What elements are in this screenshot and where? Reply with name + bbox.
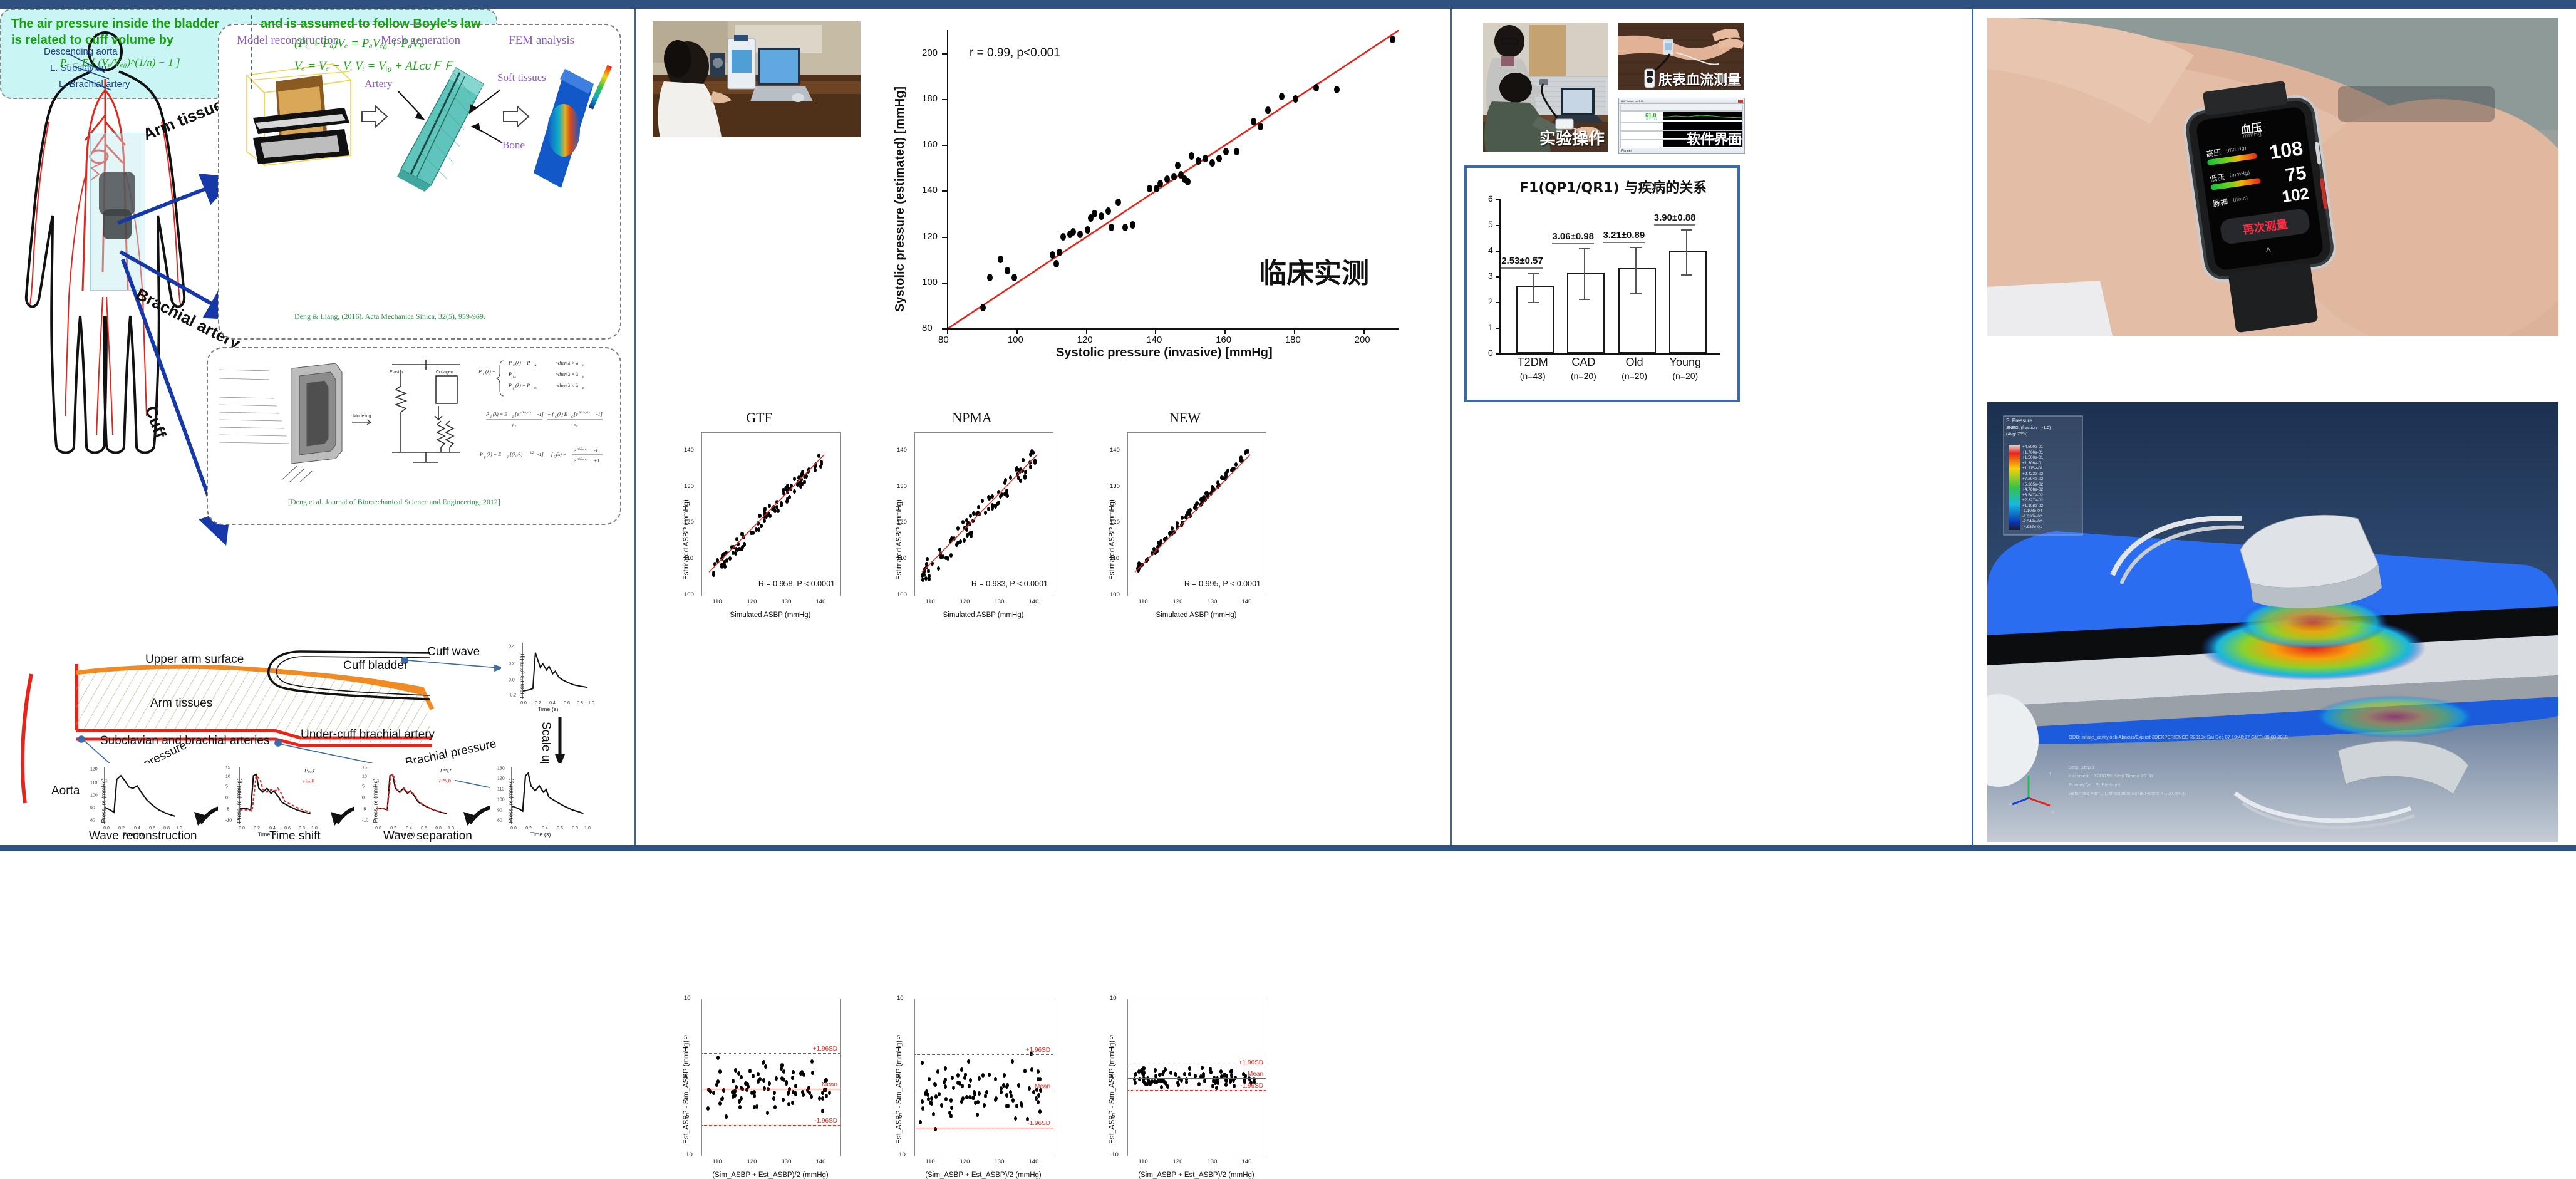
- bland-point: [715, 1083, 718, 1087]
- fem-citation: Deng & Liang, (2016). Acta Mechanica Sin…: [294, 312, 485, 321]
- error-cap-bottom: [1681, 274, 1692, 276]
- ts-ytick-4: 10: [362, 775, 367, 779]
- scatter-point: [1050, 251, 1055, 259]
- svg-text:bk: bk: [534, 365, 537, 368]
- correlation-ylabel: Estimated ASBP (mmHg): [896, 499, 903, 580]
- mri-reconstruction-image: [239, 58, 358, 177]
- bland-point: [1037, 1069, 1040, 1074]
- svg-text:b: b: [582, 365, 584, 368]
- ytick-mark: [942, 283, 948, 284]
- main-chart-cjk-overlay: 临床实测: [1259, 251, 1369, 291]
- bar-ytick-mark: [1496, 353, 1499, 355]
- svg-text:b: b: [582, 387, 584, 390]
- time-shift-axes: [376, 767, 451, 824]
- bland-point: [762, 1078, 765, 1083]
- fem-legend-value: +1.700e-01: [2022, 450, 2043, 456]
- bland-ylabel: Est_ASBP - Sim_ASBP (mmHg): [683, 1041, 690, 1144]
- ytick: 140: [1110, 447, 1120, 454]
- chart-brachial-pressure: Pressure (mmHg) Time (s) 80 90 100 110 1…: [490, 763, 591, 838]
- svg-text:bk: bk: [534, 387, 537, 390]
- lower-limit-line: [915, 1128, 1053, 1128]
- bland-point: [757, 1072, 760, 1076]
- software-sub-value-2: 61: [1654, 118, 1657, 121]
- small-chart-title: GTF: [674, 410, 844, 426]
- bland-point: [718, 1101, 722, 1106]
- reconstructed-legend-backward: Pₐₒ,b: [303, 778, 314, 784]
- bar-ytick-mark: [1496, 225, 1499, 226]
- error-cap-top: [1630, 247, 1642, 248]
- smartwatch-device[interactable]: 血压 mmHg 高压 (mmHg) 108 低压 (mmHg) 75 脉搏 (/…: [2187, 98, 2333, 278]
- xtick: 110: [926, 598, 935, 605]
- svg-text:P: P: [508, 371, 512, 377]
- fem-legend-value: +1.108e-02: [2022, 504, 2043, 509]
- rec-ytick-4: 10: [225, 775, 230, 779]
- br-ytick-2: 100: [497, 798, 505, 802]
- label-l-brachial-artery: L. Brachial artery: [59, 79, 130, 90]
- bladder-pressure-text-line1: The air pressure inside the bladder: [11, 16, 249, 32]
- reconstructed-legend-forward: Pₐₒ,f: [304, 768, 314, 774]
- main-chart-xtick: 140: [1146, 335, 1162, 345]
- bland-point: [1176, 1081, 1179, 1085]
- bland-point: [983, 1103, 986, 1108]
- main-chart-xtick: 160: [1216, 335, 1231, 345]
- correlation-ylabel: Estimated ASBP (mmHg): [1109, 499, 1116, 580]
- chart-aortic-pressure: Pressure (mmHg) Time (s) 80 90 100 110 1…: [83, 763, 183, 838]
- watch-row-0-unit: (mmHg): [2225, 145, 2247, 153]
- svg-text:-1]: -1]: [537, 412, 544, 417]
- svg-text:E: E: [490, 416, 492, 419]
- bland-xtick: 110: [1139, 1158, 1148, 1165]
- aortic-ytick-3: 110: [90, 781, 97, 786]
- cuff-wave-axes: [522, 643, 591, 699]
- scatter-point: [1105, 207, 1111, 215]
- bland-point: [978, 1076, 981, 1081]
- fem-legend-value: -1.108e-04: [2022, 509, 2043, 514]
- bland-xtick: 140: [1242, 1158, 1252, 1165]
- bland-point: [1197, 1082, 1201, 1086]
- fem-legend-value: +1.500e-01: [2022, 455, 2043, 461]
- bland-ytick: -10: [684, 1151, 693, 1158]
- br-xtick-3: 0.6: [557, 826, 563, 831]
- main-chart-ytick: 140: [922, 185, 938, 195]
- xtick: 110: [1139, 598, 1148, 605]
- svg-text:+ f: + f: [547, 412, 554, 417]
- bland-xtick: 140: [1029, 1158, 1039, 1165]
- bland-point: [924, 1091, 927, 1096]
- bland-point: [967, 1059, 970, 1064]
- ytick: 140: [897, 447, 907, 454]
- bar-category-label: CAD: [1556, 356, 1611, 369]
- bland-point: [932, 1112, 935, 1116]
- cuff-wave-xtick-0: 0.0: [520, 701, 527, 705]
- time-shift-ylabel: Pressure (mmHg): [373, 778, 379, 823]
- clinical-setup-photo: [653, 21, 861, 137]
- ytick-mark: [942, 99, 948, 100]
- panel-cuff-arm-model: Descending aorta L. Subclavian L. Brachi…: [0, 9, 634, 845]
- label-under-cuff-brachial-artery: Under-cuff brachial artery: [301, 728, 435, 742]
- rec-ytick-1: -5: [225, 808, 229, 812]
- mean-line-label: Mean: [1248, 1071, 1263, 1078]
- ts-ytick-0: -10: [362, 819, 368, 823]
- fem-legend-values: +4.500e-01+1.700e-01+1.500e-01+1.308e-01…: [2022, 445, 2043, 530]
- validation-chart-NPMA: NPMAR = 0.933, P < 0.0001100110120130140…: [887, 410, 1057, 823]
- bland-point: [1020, 1103, 1023, 1108]
- svg-text:ρ: ρ: [573, 423, 576, 427]
- scatter-point: [1185, 178, 1191, 185]
- bland-point: [706, 1106, 710, 1111]
- main-chart-ytick: 120: [922, 231, 938, 242]
- brachial-pressure-axes: [511, 767, 587, 824]
- bland-point: [940, 1103, 943, 1108]
- arm-cuff-schematic: Upper arm surface Arm tissues Cuff bladd…: [6, 635, 626, 851]
- reconstructed-ylabel: Pressure (mmHg): [236, 778, 242, 823]
- svg-text:p: p: [484, 456, 486, 459]
- watch-remeasure-button[interactable]: 再次测量: [2219, 208, 2310, 245]
- bland-point: [1154, 1074, 1157, 1078]
- panel-wearable-and-fem: 血压 mmHg 高压 (mmHg) 108 低压 (mmHg) 75 脉搏 (/…: [1973, 9, 2576, 845]
- bland-point: [968, 1084, 971, 1088]
- bland-point: [1209, 1070, 1213, 1074]
- main-chart-xtick: 120: [1077, 335, 1093, 345]
- xtick: 140: [816, 598, 826, 605]
- main-chart-xtick: 80: [938, 335, 949, 345]
- ytick: 130: [684, 483, 694, 490]
- bland-point: [1023, 1069, 1027, 1073]
- lower-limit-line-label: -1.96SD: [814, 1118, 837, 1124]
- reconstructed-wave-axes: [239, 767, 314, 824]
- scatter-point: [1293, 95, 1298, 103]
- panel-experiment-statistics: 实验操作 肤表血流测量 LDF: [1452, 9, 1972, 845]
- watch-row-1-value: 75: [2284, 163, 2308, 187]
- bland-point: [971, 1096, 975, 1100]
- scatter-point: [1164, 175, 1170, 183]
- xtick: 130: [1208, 598, 1218, 605]
- watch-row-2-value: 102: [2281, 184, 2310, 207]
- svg-text:p: p: [512, 387, 515, 390]
- bland-point: [944, 1084, 947, 1089]
- error-bar: [1635, 248, 1637, 294]
- correlation-plot-frame: R = 0.933, P < 0.0001: [914, 432, 1053, 596]
- bland-point: [1017, 1083, 1020, 1088]
- bland-xtick: 130: [782, 1158, 792, 1165]
- aortic-pressure-axes: [104, 767, 179, 824]
- bland-point: [738, 1105, 742, 1109]
- bar-value-label: 2.53±0.57: [1501, 256, 1543, 269]
- aortic-pressure-ylabel: Pressure (mmHg): [101, 778, 107, 823]
- bland-altman-frame: +1.96SDMean-1.96SD: [701, 999, 841, 1156]
- bland-point: [1169, 1071, 1172, 1075]
- error-cap-top: [1579, 248, 1590, 249]
- scatter-point: [1175, 162, 1181, 169]
- fem-legend-sub2: (Avg: 75%): [2006, 432, 2028, 437]
- scatter-point: [1130, 221, 1135, 229]
- bland-point: [1138, 1077, 1141, 1081]
- bland-point: [1158, 1073, 1161, 1077]
- bland-point: [821, 1109, 824, 1113]
- arterial-material-model-box: Modeling Elastin Collagen: [207, 347, 621, 525]
- bar-group-size-label: (n=20): [1607, 371, 1662, 381]
- bland-point: [969, 1078, 972, 1083]
- xtick-mark: [1155, 328, 1156, 334]
- svg-text:t: t: [483, 373, 484, 377]
- bland-point: [1141, 1071, 1144, 1076]
- bland-point: [938, 1092, 941, 1096]
- correlation-ylabel: Estimated ASBP (mmHg): [683, 499, 690, 580]
- close-icon[interactable]: [1738, 100, 1743, 103]
- bar-category-label: T2DM: [1505, 356, 1560, 369]
- main-chart-xlabel: Systolic pressure (invasive) [mmHg]: [1056, 346, 1273, 360]
- bland-point: [1188, 1072, 1191, 1076]
- regression-line: [915, 433, 1053, 596]
- cuff-wave-xtick-3: 0.6: [564, 701, 570, 705]
- xtick: 140: [1029, 598, 1039, 605]
- bland-point: [782, 1098, 785, 1102]
- scatter-point: [1203, 155, 1208, 162]
- bland-point: [1219, 1069, 1223, 1074]
- bland-point: [1160, 1085, 1163, 1089]
- rec-ytick-2: 0: [225, 796, 228, 801]
- step-wave-separation: Wave separation: [383, 829, 472, 843]
- bar-ytick: 2: [1488, 296, 1493, 306]
- mean-line: [915, 1091, 1053, 1091]
- time-shift-legend-forward: P*ᵇᵣ,f: [440, 768, 451, 774]
- svg-text:when λ > λ: when λ > λ: [556, 360, 579, 366]
- br-xtick-0: 0.0: [510, 826, 517, 831]
- bland-point: [1038, 1109, 1042, 1114]
- chart-invasive-vs-estimated: Systolic pressure (estimated) [mmHg] r =…: [887, 18, 1425, 368]
- bland-xtick: 110: [926, 1158, 935, 1165]
- bland-point: [965, 1095, 968, 1099]
- ts-ytick-5: 15: [362, 766, 367, 771]
- br-xtick-5: 1.0: [584, 826, 591, 831]
- smartwatch-on-wrist-photo: 血压 mmHg 高压 (mmHg) 108 低压 (mmHg) 75 脉搏 (/…: [1987, 18, 2558, 336]
- bland-point: [1137, 1069, 1141, 1074]
- bland-point: [732, 1079, 735, 1083]
- arrow-right-icon-2: [502, 104, 531, 130]
- small-chart-title: NEW: [1100, 410, 1270, 426]
- bland-point: [1149, 1082, 1152, 1086]
- bland-point: [930, 1096, 933, 1101]
- svg-text:[e: [e: [515, 412, 519, 417]
- svg-text:(λ) + P: (λ) + P: [515, 383, 530, 388]
- bland-point: [740, 1096, 743, 1101]
- scatter-point: [1216, 155, 1222, 162]
- bar: [1669, 251, 1707, 353]
- bland-point: [1143, 1081, 1146, 1085]
- watch-row-2-label: 脉搏: [2212, 196, 2228, 209]
- fem-footer-odb: ODB: inflate_cavity.odb Abaqus/Explicit …: [2069, 734, 2288, 740]
- caption-software-ui: 软件界面: [1687, 128, 1742, 148]
- label-arm-tissues-schematic: Arm tissues: [150, 697, 212, 710]
- bland-ylabel: Est_ASBP - Sim_ASBP (mmHg): [896, 1041, 903, 1144]
- ytick: 100: [897, 591, 907, 598]
- chart-time-shifted-wave: Pressure (mmHg) Time (s) P*ᵇᵣ,f P*ᵇᵣ,b -…: [354, 763, 455, 838]
- bar-ytick-mark: [1496, 199, 1499, 200]
- rec-xtick-0: 0.0: [239, 826, 245, 831]
- bland-point: [722, 1088, 725, 1093]
- bland-point: [768, 1081, 771, 1086]
- upper-limit-line-label: +1.96SD: [1026, 1047, 1050, 1054]
- bland-point: [772, 1096, 775, 1101]
- fem-legend-value: +7.204e-02: [2022, 477, 2043, 482]
- bland-point: [802, 1093, 805, 1097]
- cuff-wave-ytick-3: 0.4: [509, 645, 515, 649]
- fem-analysis-image: [529, 60, 623, 198]
- xtick-mark: [1016, 328, 1018, 334]
- svg-text:-1]: -1]: [537, 452, 544, 457]
- fem-legend-value: +2.327e-02: [2022, 498, 2043, 504]
- bland-point: [1005, 1104, 1008, 1108]
- panel-clinical-validation: Systolic pressure (estimated) [mmHg] r =…: [636, 9, 1450, 845]
- bland-point: [773, 1105, 777, 1109]
- bland-point: [976, 1113, 979, 1117]
- fem-footer-primary-var: Primary Var: S, Pressure: [2069, 782, 2120, 787]
- constitutive-equations-image: Pt(λ) = PE(λ) + Pbk when λ > λb Pbk when…: [477, 356, 616, 500]
- svg-text:P: P: [508, 360, 512, 366]
- xtick: 120: [1173, 598, 1183, 605]
- bland-point: [988, 1073, 991, 1077]
- svg-text:3/2: 3/2: [530, 452, 534, 455]
- mean-line: [1128, 1078, 1266, 1079]
- br-xtick-1: 0.2: [525, 826, 532, 831]
- label-cuff-wave: Cuff wave: [427, 645, 480, 659]
- bland-point: [721, 1096, 724, 1101]
- error-cap-bottom: [1630, 293, 1642, 294]
- rec-ytick-0: -10: [225, 819, 232, 823]
- validation-chart-GTF: GTFR = 0.958, P < 0.00011001101201301401…: [674, 410, 844, 823]
- skin-blood-flow-photo: 肤表血流测量: [1618, 23, 1744, 90]
- boyle-law-formula-2: Vₑ = Vₑ − Vᵢ Vᵢ = Vᵢ₀ + ALᴄᴜＦＦ: [294, 56, 454, 73]
- svg-text:C: C: [576, 425, 578, 428]
- main-chart-ytick: 160: [922, 139, 938, 150]
- upper-limit-line: [702, 1053, 840, 1054]
- label-elastin: Elastin: [390, 370, 403, 375]
- correlation-plot-frame: R = 0.958, P < 0.0001: [701, 432, 841, 596]
- ytick: 130: [1110, 483, 1120, 490]
- bar-chart-title: F1(QP1/QR1) 与疾病的关系: [1519, 177, 1707, 197]
- caption-experiment: 实验操作: [1539, 126, 1605, 149]
- correlation-stat: R = 0.958, P < 0.0001: [758, 579, 835, 588]
- bland-point: [919, 1120, 922, 1124]
- ytick: 100: [684, 591, 694, 598]
- bland-point: [1244, 1074, 1247, 1078]
- svg-text:E: E: [512, 365, 515, 368]
- bland-point: [1037, 1077, 1040, 1081]
- aortic-ytick-4: 120: [90, 767, 98, 772]
- xtick: 130: [995, 598, 1005, 605]
- regression-line: [1128, 433, 1266, 596]
- label-scale-up: Scale up: [539, 722, 552, 768]
- rec-ytick-3: 5: [225, 785, 228, 789]
- bland-point: [1011, 1098, 1015, 1103]
- boyle-law-text: and is assumed to follow Boyle's law: [261, 16, 486, 32]
- bland-point: [767, 1087, 770, 1091]
- bland-point: [921, 1099, 924, 1104]
- bland-xtick: 120: [960, 1158, 970, 1165]
- fem-footer-deformed-var: Deformed Var: U Deformation Scale Factor…: [2069, 791, 2186, 796]
- fem-axis-label-z: Z: [2010, 801, 2013, 806]
- bland-point: [1203, 1079, 1206, 1083]
- bland-point: [780, 1063, 784, 1067]
- bland-point: [782, 1069, 785, 1074]
- bland-point: [1224, 1083, 1228, 1087]
- bladder-pressure-formula: Pₑ = Eₑ[ (Vₑ/Vₑ₀)^(1/n) − 1 ]: [60, 56, 180, 69]
- step-time-shift: Time shift: [269, 829, 321, 843]
- main-chart-ytick: 80: [922, 323, 933, 333]
- rec-xtick-1: 0.2: [254, 826, 260, 831]
- scatter-point: [1099, 212, 1104, 220]
- cuff-device-lower: [103, 209, 132, 239]
- bland-point: [794, 1084, 797, 1088]
- svg-text:+1: +1: [594, 458, 599, 464]
- scatter-point: [1092, 210, 1097, 217]
- aortic-ytick-0: 80: [90, 819, 95, 823]
- label-collagen: Collagen: [436, 370, 453, 375]
- cuff-wave-ytick-1: 0.0: [509, 678, 515, 683]
- bland-point: [811, 1071, 814, 1075]
- regression-line: [702, 433, 840, 596]
- bland-point: [981, 1073, 985, 1078]
- bar-group-size-label: (n=43): [1505, 371, 1560, 381]
- svg-text:P: P: [507, 456, 509, 459]
- mean-line-label: Mean: [822, 1081, 837, 1088]
- bladder-pressure-text-line2: is related to cuff volume by: [11, 33, 249, 48]
- cuff-wave-ytick-2: 0.2: [509, 662, 515, 667]
- ytick: 130: [897, 483, 907, 490]
- xtick-mark: [1294, 328, 1295, 334]
- bar-ytick-mark: [1496, 251, 1499, 252]
- bland-point: [1161, 1072, 1164, 1076]
- bland-point: [794, 1092, 797, 1096]
- bar-ytick: 4: [1488, 245, 1493, 255]
- br-xtick-4: 0.8: [572, 826, 578, 831]
- bland-point: [1037, 1100, 1040, 1104]
- bar-ytick-mark: [1496, 328, 1499, 329]
- scatter-point: [1053, 260, 1059, 267]
- bland-ytick: 5: [1110, 1034, 1113, 1041]
- bland-point: [791, 1101, 794, 1105]
- xtick: 130: [782, 598, 792, 605]
- bar-ytick-mark: [1496, 302, 1499, 303]
- bland-point: [951, 1076, 954, 1080]
- bland-point: [976, 1100, 980, 1104]
- fem-legend-value: +9.423e-02: [2022, 472, 2043, 477]
- svg-text:e: e: [574, 448, 576, 454]
- svg-text:[e: [e: [574, 412, 578, 417]
- error-cap-top: [1681, 229, 1692, 231]
- watch-row-0-label: 高压: [2205, 147, 2222, 159]
- bland-point: [960, 1067, 963, 1072]
- svg-text:-1: -1: [594, 448, 598, 454]
- cuff-wave-ytick-0: -0.2: [509, 693, 516, 698]
- mean-line-label: Mean: [1035, 1083, 1050, 1090]
- bland-point: [825, 1094, 828, 1098]
- bland-point: [995, 1096, 998, 1101]
- bar-ytick: 1: [1488, 322, 1493, 332]
- scatter-point: [1279, 93, 1285, 100]
- bar-group-size-label: (n=20): [1658, 371, 1713, 381]
- main-chart-xtick: 200: [1355, 335, 1370, 345]
- bland-xtick: 130: [995, 1158, 1005, 1165]
- bland-point: [828, 1091, 831, 1095]
- xtick-mark: [1224, 328, 1226, 334]
- svg-text:P: P: [479, 452, 483, 457]
- bland-point: [921, 1106, 924, 1111]
- svg-text:α(λ/λ₀-1): α(λ/λ₀-1): [520, 412, 531, 415]
- bland-point: [1010, 1094, 1013, 1098]
- bland-point: [1011, 1059, 1014, 1064]
- scatter-point: [1234, 148, 1239, 155]
